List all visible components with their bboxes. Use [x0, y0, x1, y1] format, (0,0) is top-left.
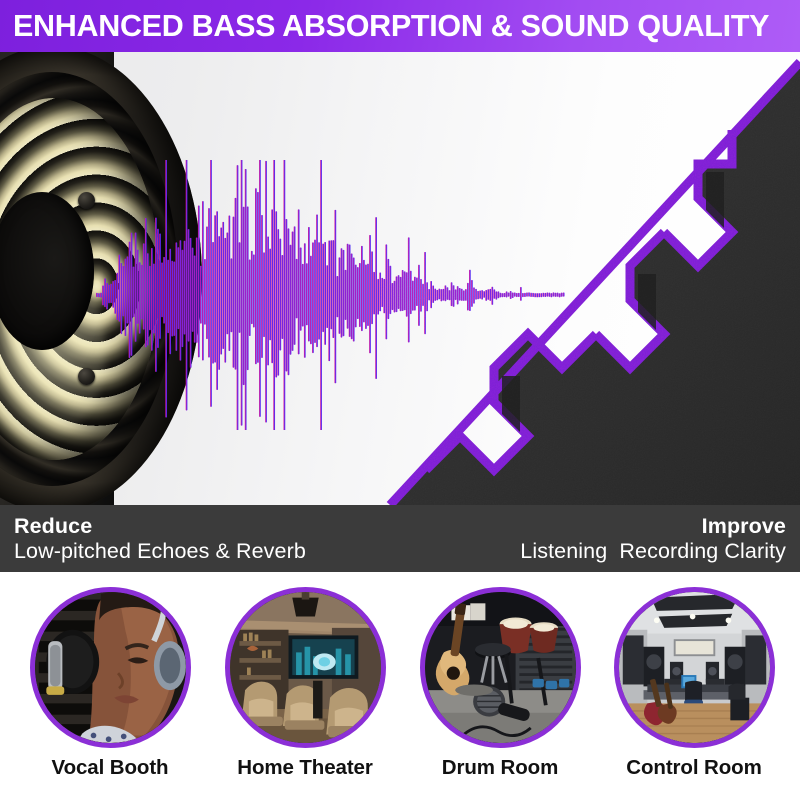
usecase-item-home-theater: Home Theater	[221, 587, 389, 779]
usecase-label: Home Theater	[237, 758, 373, 779]
banner-title: ENHANCED BASS ABSORPTION & SOUND QUALITY	[13, 11, 769, 42]
usecase-item-drum-room: Drum Room	[416, 587, 584, 779]
benefit-improve: Improve Listening Recording Clarity	[520, 505, 786, 572]
usecase-item-vocal-booth: Vocal Booth	[26, 587, 194, 779]
hero-image	[0, 52, 800, 505]
drum-room-photo-icon	[425, 592, 576, 743]
usecase-gallery: Vocal Booth	[0, 572, 800, 800]
speaker-screw	[78, 192, 95, 209]
control-room-photo-icon	[619, 592, 770, 743]
usecase-thumbnail-vocal-booth	[30, 587, 191, 748]
usecase-label: Drum Room	[442, 758, 558, 779]
usecase-item-control-room: Control Room	[610, 587, 778, 779]
benefit-improve-subtext: Listening Recording Clarity	[520, 539, 786, 563]
benefit-reduce-subtext: Low-pitched Echoes & Reverb	[14, 539, 306, 563]
home-theater-photo-icon	[230, 592, 381, 743]
usecase-label: Vocal Booth	[52, 758, 169, 779]
usecase-thumbnail-drum-room	[420, 587, 581, 748]
usecase-thumbnail-home-theater	[225, 587, 386, 748]
acoustic-foam-panel-icon	[380, 52, 800, 505]
product-infographic: ENHANCED BASS ABSORPTION & SOUND QUALITY	[0, 0, 800, 800]
benefit-improve-heading: Improve	[702, 514, 786, 538]
speaker-screw	[78, 368, 95, 385]
header-banner: ENHANCED BASS ABSORPTION & SOUND QUALITY	[0, 0, 800, 52]
benefits-bar: Reduce Low-pitched Echoes & Reverb Impro…	[0, 505, 800, 572]
benefit-reduce: Reduce Low-pitched Echoes & Reverb	[14, 505, 306, 572]
vocal-booth-photo-icon	[35, 592, 186, 743]
benefit-reduce-heading: Reduce	[14, 514, 92, 538]
usecase-label: Control Room	[626, 758, 761, 779]
usecase-thumbnail-control-room	[614, 587, 775, 748]
